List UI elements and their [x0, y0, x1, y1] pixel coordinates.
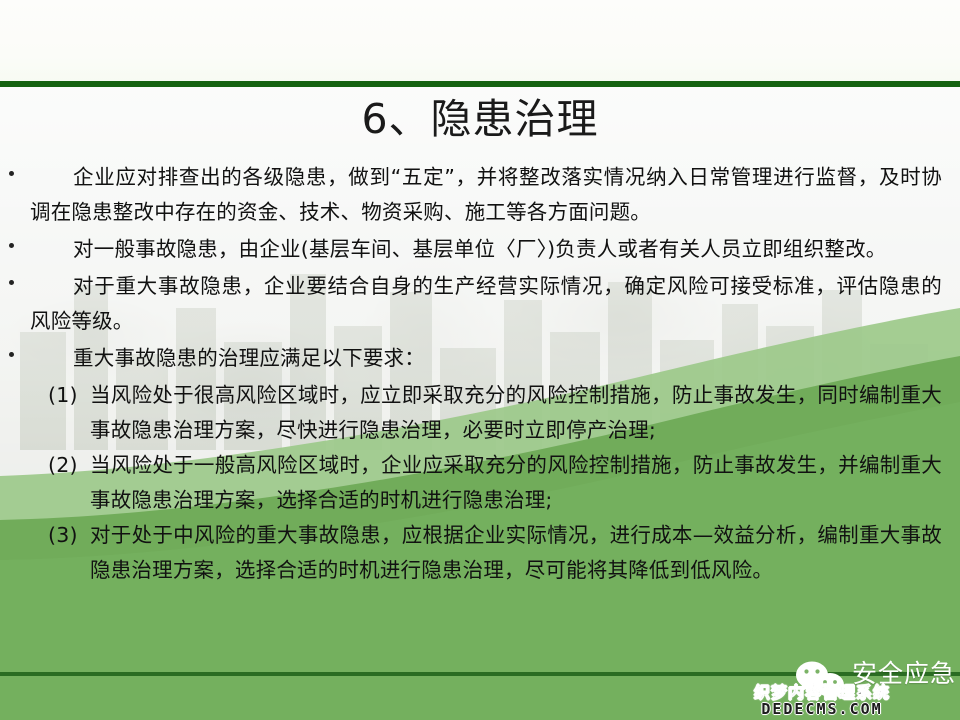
slide-body: 企业应对排查出的各级隐患，做到“五定”，并将整改落实情况纳入日常管理进行监督，及… — [0, 160, 960, 588]
numbered-item: (2) 当风险处于一般高风险区域时，企业应采取充分的风险控制措施，防止事故发生，… — [48, 448, 942, 518]
logo-caption: 安全应急 — [852, 659, 956, 689]
bullet-text: 企业应对排查出的各级隐患，做到“五定”，并将整改落实情况纳入日常管理进行监督，及… — [30, 160, 960, 230]
numbered-item: (1) 当风险处于很高风险区域时，应立即采取充分的风险控制措施，防止事故发生，同… — [48, 378, 942, 448]
bullet-dot-icon — [9, 243, 14, 248]
numbered-item-text: 当风险处于很高风险区域时，应立即采取充分的风险控制措施，防止事故发生，同时编制重… — [90, 383, 942, 442]
page-title: 6、隐患治理 — [0, 94, 960, 144]
bullet-dot-icon — [9, 280, 14, 285]
bullet-dot-icon — [9, 171, 14, 176]
header-green-divider — [0, 81, 960, 87]
bullet-text: 重大事故隐患的治理应满足以下要求： — [30, 341, 960, 376]
wechat-icon — [795, 660, 847, 702]
bullet-item: 对一般事故隐患，由企业(基层车间、基层单位〈厂〉)负责人或者有关人员立即组织整改… — [0, 232, 960, 267]
bullet-item: 企业应对排查出的各级隐患，做到“五定”，并将整改落实情况纳入日常管理进行监督，及… — [0, 160, 960, 230]
numbered-item-text: 当风险处于一般高风险区域时，企业应采取充分的风险控制措施，防止事故发生，并编制重… — [90, 453, 942, 512]
bullet-text: 对一般事故隐患，由企业(基层车间、基层单位〈厂〉)负责人或者有关人员立即组织整改… — [30, 232, 960, 267]
header-white-band — [0, 0, 960, 81]
numbered-item: (3) 对于处于中风险的重大事故隐患，应根据企业实际情况，进行成本—效益分析，编… — [48, 518, 942, 588]
numbered-list: (1) 当风险处于很高风险区域时，应立即采取充分的风险控制措施，防止事故发生，同… — [0, 378, 960, 588]
numbered-item-number: (2) — [48, 448, 78, 483]
bullet-dot-icon — [9, 352, 14, 357]
slide-canvas: 6、隐患治理 企业应对排查出的各级隐患，做到“五定”，并将整改落实情况纳入日常管… — [0, 0, 960, 720]
bullet-item: 对于重大事故隐患，企业要结合自身的生产经营实际情况，确定风险可接受标准，评估隐患… — [0, 269, 960, 339]
bullet-item: 重大事故隐患的治理应满足以下要求： — [0, 341, 960, 376]
numbered-item-number: (1) — [48, 378, 78, 413]
numbered-item-text: 对于处于中风险的重大事故隐患，应根据企业实际情况，进行成本—效益分析，编制重大事… — [90, 523, 942, 582]
numbered-item-number: (3) — [48, 518, 78, 553]
bullet-text: 对于重大事故隐患，企业要结合自身的生产经营实际情况，确定风险可接受标准，评估隐患… — [30, 269, 960, 339]
